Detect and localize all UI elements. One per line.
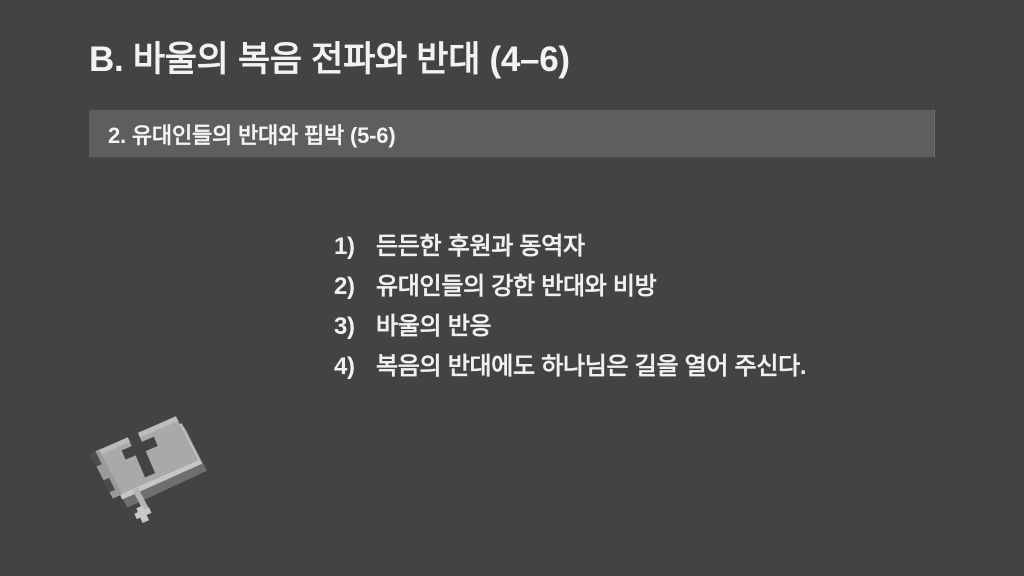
list-item: 3) 바울의 반응: [334, 306, 974, 346]
presentation-slide: B. 바울의 복음 전파와 반대 (4–6) 2. 유대인들의 반대와 핍박 (…: [0, 0, 1024, 576]
subtitle-text: 2. 유대인들의 반대와 핍박 (5-6): [108, 118, 395, 150]
slide-title: B. 바울의 복음 전파와 반대 (4–6): [89, 40, 939, 80]
bible-book-icon-graphic: [82, 412, 232, 532]
list-item-number: 4): [334, 353, 376, 381]
list-item: 2) 유대인들의 강한 반대와 비방: [334, 266, 974, 306]
list-item-text: 유대인들의 강한 반대와 비방: [376, 266, 974, 301]
list-item-text: 든든한 후원과 동역자: [376, 226, 974, 261]
list-item-number: 3): [334, 313, 376, 341]
list-item-text: 복음의 반대에도 하나님은 길을 열어 주신다.: [376, 346, 974, 381]
subtitle-band: 2. 유대인들의 반대와 핍박 (5-6): [89, 110, 935, 158]
list-item-text: 바울의 반응: [376, 306, 974, 341]
numbered-point-list: 1) 든든한 후원과 동역자 2) 유대인들의 강한 반대와 비방 3) 바울의…: [334, 226, 974, 386]
list-item: 1) 든든한 후원과 동역자: [334, 226, 974, 266]
list-item-number: 1): [334, 233, 376, 261]
list-item-number: 2): [334, 273, 376, 301]
list-item: 4) 복음의 반대에도 하나님은 길을 열어 주신다.: [334, 346, 974, 386]
bible-book-icon: [82, 412, 232, 532]
